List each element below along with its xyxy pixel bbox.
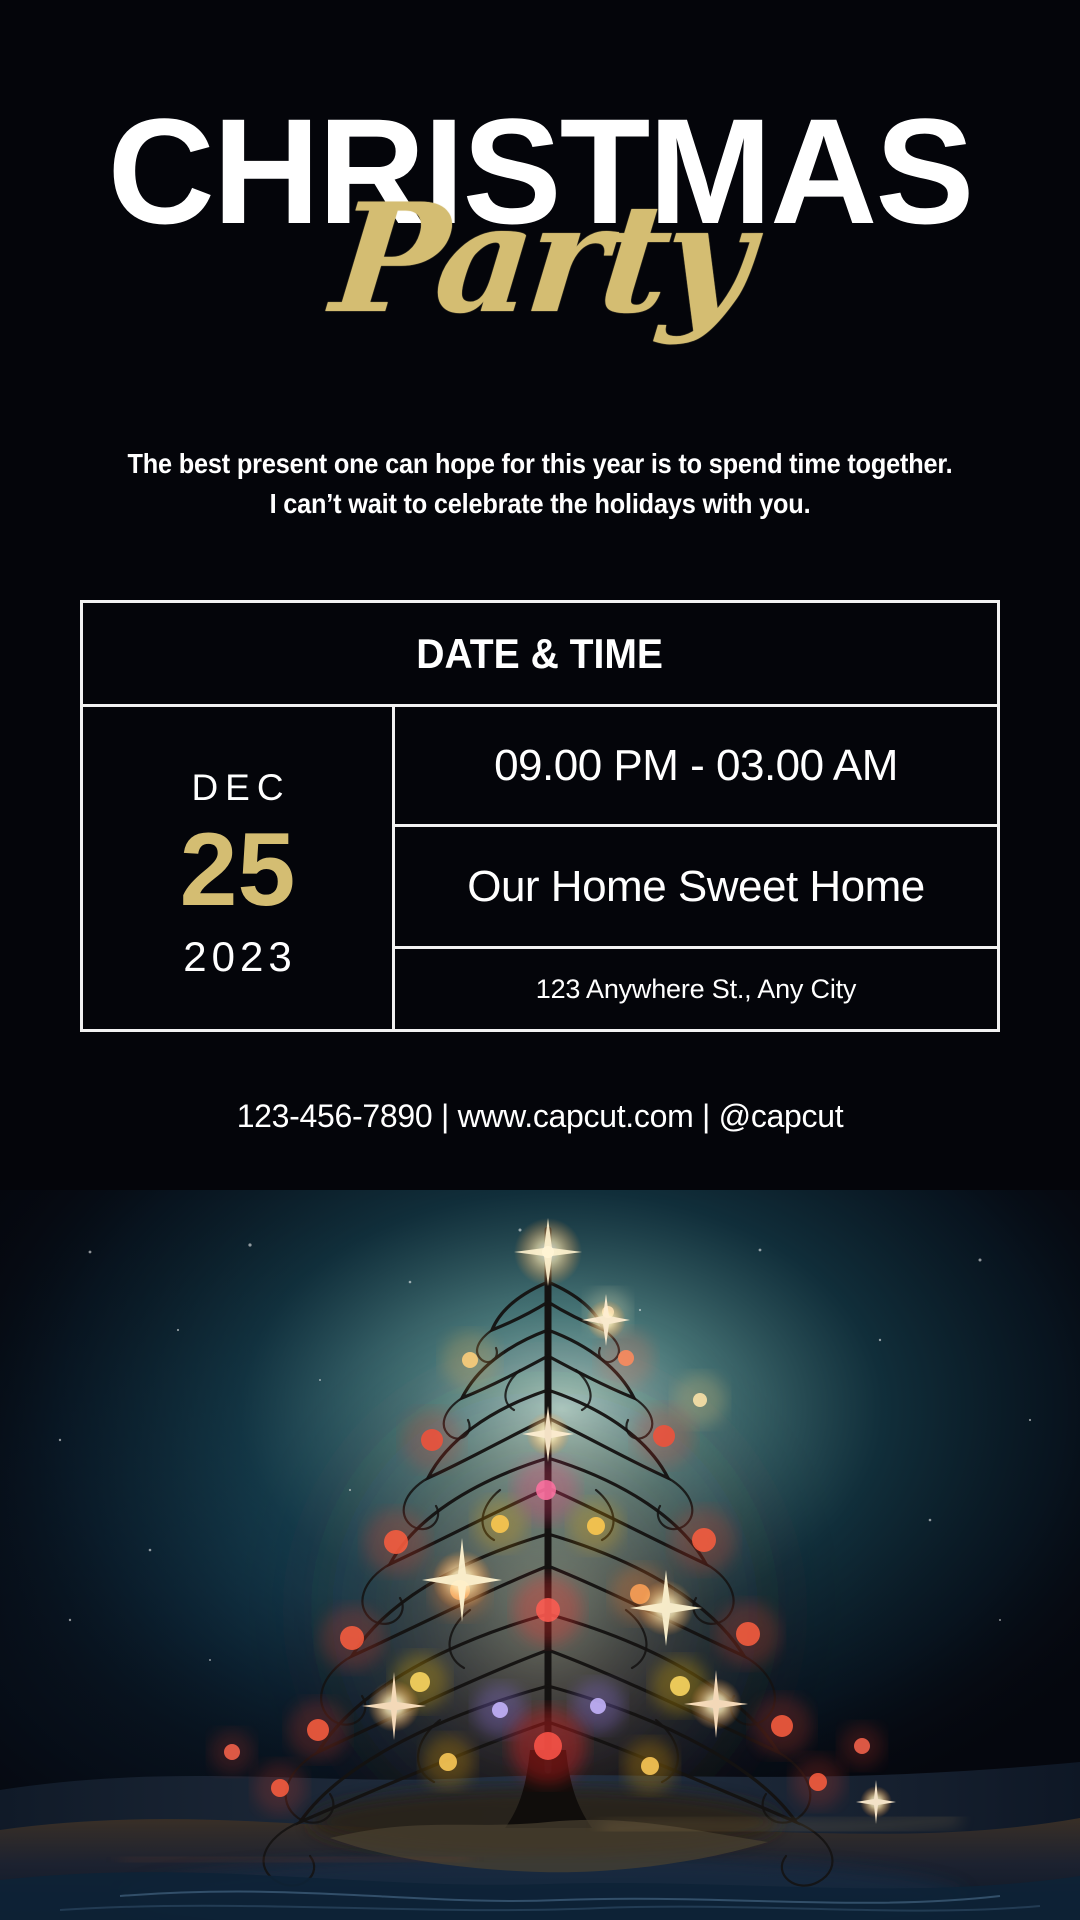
date-cell: DEC 25 2023 [83,707,395,1032]
details-table-header-label: DATE & TIME [417,630,664,678]
details-table: DATE & TIME DEC 25 2023 09.00 PM - 03.00… [80,600,1000,1032]
detail-row-venue: Our Home Sweet Home [395,827,997,949]
date-day: 25 [180,815,296,925]
details-table-body: DEC 25 2023 09.00 PM - 03.00 AM Our Home… [83,707,997,1032]
poster-top-panel: CHRISTMAS Party The best present one can… [0,0,1080,1190]
details-right-column: 09.00 PM - 03.00 AM Our Home Sweet Home … [395,707,997,1032]
detail-row-time: 09.00 PM - 03.00 AM [395,707,997,827]
contact-line: 123-456-7890 | www.capcut.com | @capcut [0,1098,1080,1135]
christmas-tree-svg [0,1190,1080,1920]
tree-top-star [514,1218,582,1286]
date-year: 2023 [178,933,296,981]
detail-row-address: 123 Anywhere St., Any City [395,949,997,1029]
intro-paragraph: The best present one can hope for this y… [126,444,954,524]
title-script: Party [0,184,1080,334]
details-table-header: DATE & TIME [83,603,997,707]
title-block: CHRISTMAS Party [0,96,1080,376]
date-month: DEC [184,765,290,811]
christmas-party-poster: CHRISTMAS Party The best present one can… [0,0,1080,1920]
christmas-tree-illustration [0,1190,1080,1920]
